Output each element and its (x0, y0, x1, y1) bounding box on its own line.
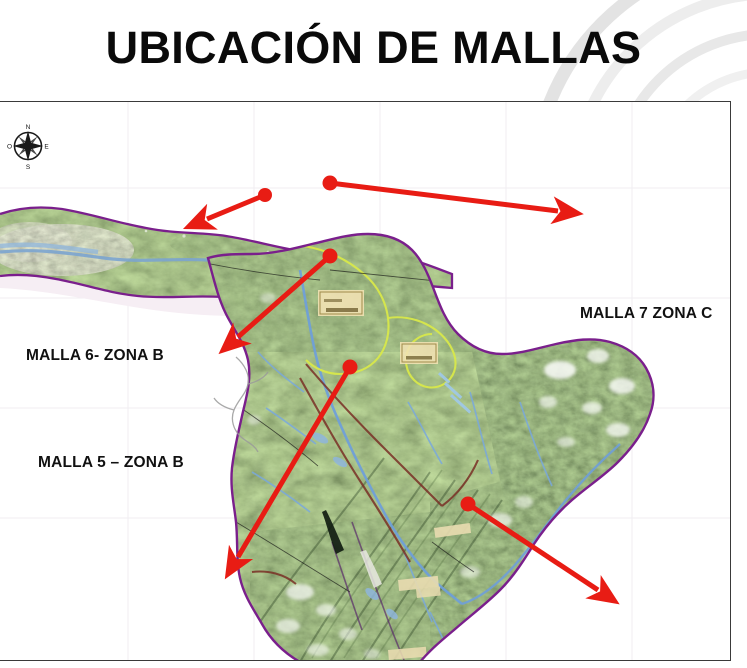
marker-malla5 (323, 249, 338, 264)
svg-text:S: S (26, 164, 31, 171)
label-malla-6-zona-b: MALLA 6- ZONA B (26, 347, 164, 365)
label-malla-7-zona-c: MALLA 7 ZONA C (580, 305, 713, 323)
satellite-map-image: N S E O (0, 102, 731, 661)
map-content-panel: N S E O (0, 101, 731, 661)
svg-text:E: E (44, 143, 49, 150)
label-malla-5-zona-b: MALLA 5 – ZONA B (38, 454, 184, 472)
marker-malla7 (323, 176, 338, 191)
marker-malla6 (258, 188, 272, 202)
bottom-margin (0, 661, 747, 668)
svg-text:O: O (7, 143, 12, 150)
page-header: UBICACIÓN DE MALLAS (0, 0, 747, 101)
marker-zona-a (461, 497, 476, 512)
page-title: UBICACIÓN DE MALLAS (0, 18, 747, 78)
svg-text:N: N (26, 124, 31, 131)
marker-malla4 (343, 360, 358, 375)
